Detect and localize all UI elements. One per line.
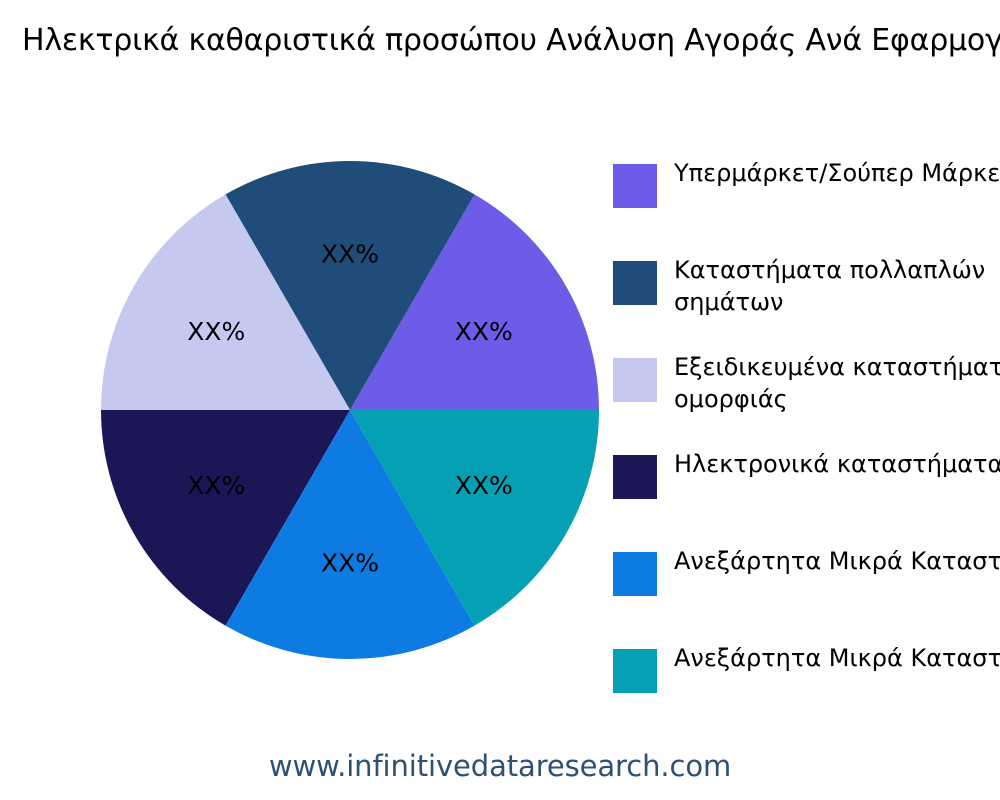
legend-item[interactable]: Καταστήματα πολλαπλών σημάτων <box>613 255 1000 352</box>
pie-slice-group <box>101 161 599 659</box>
legend-item[interactable]: Ανεξάρτητα Μικρά Καταστήματα <box>613 546 1000 643</box>
legend-color-swatch <box>613 164 657 208</box>
legend-color-swatch <box>613 649 657 693</box>
legend-item-label: Ανεξάρτητα Μικρά Καταστήματα <box>674 642 1000 674</box>
pie-slice-value-label: XX% <box>455 317 513 346</box>
legend-item[interactable]: Εξειδικευμένα καταστήματα ομορφιάς <box>613 352 1000 449</box>
legend-item-label: Ηλεκτρονικά καταστήματα <box>674 448 1000 480</box>
legend-color-swatch <box>613 358 657 402</box>
pie-plot-area: XX%XX%XX%XX%XX%XX% <box>0 0 620 800</box>
pie-slice-value-label: XX% <box>321 240 379 269</box>
pie-slice-value-label: XX% <box>455 471 513 500</box>
pie-chart-figure: Ηλεκτρικά καθαριστικά προσώπου Ανάλυση Α… <box>0 0 1000 800</box>
legend-item[interactable]: Ηλεκτρονικά καταστήματα <box>613 449 1000 546</box>
pie-slice-value-label: XX% <box>321 548 379 577</box>
legend-item[interactable]: Υπερμάρκετ/Σούπερ Μάρκετ <box>613 158 1000 255</box>
pie-slice-value-label: XX% <box>187 317 245 346</box>
legend-item-label: Ανεξάρτητα Μικρά Καταστήματα <box>674 545 1000 577</box>
pie-slice-value-label: XX% <box>187 471 245 500</box>
legend-color-swatch <box>613 261 657 305</box>
legend-item-label: Καταστήματα πολλαπλών σημάτων <box>674 254 1000 318</box>
legend-color-swatch <box>613 552 657 596</box>
pie-svg: XX%XX%XX%XX%XX%XX% <box>0 0 620 800</box>
legend-item-label: Υπερμάρκετ/Σούπερ Μάρκετ <box>674 157 1000 189</box>
legend-item-label: Εξειδικευμένα καταστήματα ομορφιάς <box>674 351 1000 415</box>
footer-url[interactable]: www.infinitivedataresearch.com <box>0 749 1000 783</box>
legend: Υπερμάρκετ/Σούπερ ΜάρκετΚαταστήματα πολλ… <box>613 158 1000 740</box>
legend-color-swatch <box>613 455 657 499</box>
legend-item[interactable]: Ανεξάρτητα Μικρά Καταστήματα <box>613 643 1000 740</box>
